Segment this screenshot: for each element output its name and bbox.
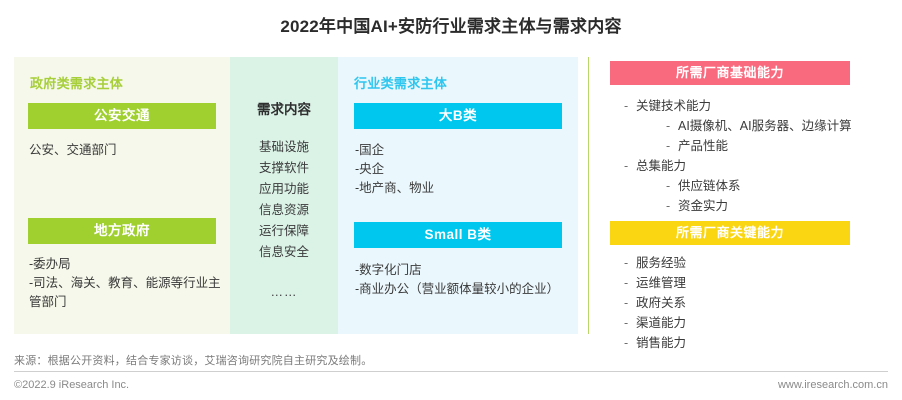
- dash-bullet-icon: -: [666, 136, 678, 156]
- capability-item-label: 销售能力: [636, 336, 686, 350]
- dash-bullet-icon: -: [624, 313, 636, 333]
- vendor-key-capability-list: -服务经验-运维管理-政府关系-渠道能力-销售能力: [612, 253, 898, 353]
- capability-item-label: 服务经验: [636, 256, 686, 270]
- dash-bullet-icon: -: [666, 116, 678, 136]
- footer-divider: [14, 371, 888, 372]
- demand-content-item: 应用功能: [230, 179, 338, 200]
- capability-item-label: 资金实力: [678, 199, 728, 213]
- body-text-line: -国企: [355, 141, 570, 160]
- body-text-line: -商业办公（营业额体量较小的企业）: [355, 280, 573, 299]
- capability-item: -运维管理: [612, 273, 898, 293]
- dash-bullet-icon: -: [624, 156, 636, 176]
- body-text-line: -数字化门店: [355, 261, 573, 280]
- industry-demand-panel: 行业类需求主体 大B类 -国企-央企-地产商、物业 Small B类 -数字化门…: [338, 57, 578, 334]
- source-note: 来源：根据公开资料，结合专家访谈，艾瑞咨询研究院自主研究及绘制。: [14, 352, 372, 368]
- website-url: www.iresearch.com.cn: [778, 379, 888, 391]
- demand-content-ellipsis: ……: [230, 285, 338, 299]
- capability-item-label: 运维管理: [636, 276, 686, 290]
- demand-content-item: 基础设施: [230, 137, 338, 158]
- demand-content-title: 需求内容: [230, 98, 338, 118]
- vendor-key-capability-bar: 所需厂商关键能力: [610, 221, 850, 245]
- capability-item-label: 总集能力: [636, 159, 686, 173]
- capability-item: -渠道能力: [612, 313, 898, 333]
- small-b-body: -数字化门店-商业办公（营业额体量较小的企业）: [355, 261, 573, 299]
- dash-bullet-icon: -: [666, 176, 678, 196]
- demand-content-item: 运行保障: [230, 221, 338, 242]
- public-security-transport-body: 公安、交通部门: [29, 141, 224, 160]
- capability-item-label: 关键技术能力: [636, 99, 711, 113]
- industry-panel-heading: 行业类需求主体: [354, 73, 447, 92]
- capability-item: -关键技术能力: [612, 96, 898, 116]
- vendor-basic-capability-list: -关键技术能力-AI摄像机、AI服务器、边缘计算-产品性能-总集能力-供应链体系…: [612, 96, 898, 216]
- demand-content-panel: 需求内容 基础设施支撑软件应用功能信息资源运行保障信息安全 ……: [230, 57, 338, 334]
- body-text-line: -央企: [355, 160, 570, 179]
- page-title: 2022年中国AI+安防行业需求主体与需求内容: [0, 12, 902, 37]
- vertical-divider: [588, 57, 589, 334]
- capability-item: -服务经验: [612, 253, 898, 273]
- dash-bullet-icon: -: [624, 96, 636, 116]
- demand-content-item: 支撑软件: [230, 158, 338, 179]
- copyright-text: ©2022.9 iResearch Inc.: [14, 379, 129, 391]
- capability-item: -政府关系: [612, 293, 898, 313]
- dash-bullet-icon: -: [666, 196, 678, 216]
- big-b-bar: 大B类: [354, 103, 562, 129]
- capability-item-label: AI摄像机、AI服务器、边缘计算: [678, 119, 852, 133]
- body-text-line: 公安、交通部门: [29, 141, 224, 160]
- capability-item: -总集能力: [612, 156, 898, 176]
- demand-content-item: 信息资源: [230, 200, 338, 221]
- big-b-body: -国企-央企-地产商、物业: [355, 141, 570, 198]
- local-government-body: -委办局-司法、海关、教育、能源等行业主管部门: [29, 255, 227, 312]
- capability-item: -产品性能: [612, 136, 898, 156]
- capability-item-label: 渠道能力: [636, 316, 686, 330]
- local-government-bar: 地方政府: [28, 218, 216, 244]
- dash-bullet-icon: -: [624, 273, 636, 293]
- dash-bullet-icon: -: [624, 253, 636, 273]
- capability-item: -供应链体系: [612, 176, 898, 196]
- body-text-line: -地产商、物业: [355, 179, 570, 198]
- capability-item: -资金实力: [612, 196, 898, 216]
- dash-bullet-icon: -: [624, 333, 636, 353]
- small-b-bar: Small B类: [354, 222, 562, 248]
- vendor-basic-capability-bar: 所需厂商基础能力: [610, 61, 850, 85]
- demand-content-list: 基础设施支撑软件应用功能信息资源运行保障信息安全: [230, 137, 338, 263]
- capability-item: -AI摄像机、AI服务器、边缘计算: [612, 116, 898, 136]
- capability-item-label: 供应链体系: [678, 179, 741, 193]
- body-text-line: -委办局: [29, 255, 227, 274]
- infographic-root: 2022年中国AI+安防行业需求主体与需求内容 政府类需求主体 公安交通 公安、…: [0, 0, 902, 400]
- dash-bullet-icon: -: [624, 293, 636, 313]
- capability-item: -销售能力: [612, 333, 898, 353]
- capability-item-label: 产品性能: [678, 139, 728, 153]
- government-demand-panel: 政府类需求主体 公安交通 公安、交通部门 地方政府 -委办局-司法、海关、教育、…: [14, 57, 230, 334]
- government-panel-heading: 政府类需求主体: [30, 73, 123, 92]
- demand-content-item: 信息安全: [230, 242, 338, 263]
- capability-item-label: 政府关系: [636, 296, 686, 310]
- public-security-transport-bar: 公安交通: [28, 103, 216, 129]
- body-text-line: -司法、海关、教育、能源等行业主管部门: [29, 274, 227, 312]
